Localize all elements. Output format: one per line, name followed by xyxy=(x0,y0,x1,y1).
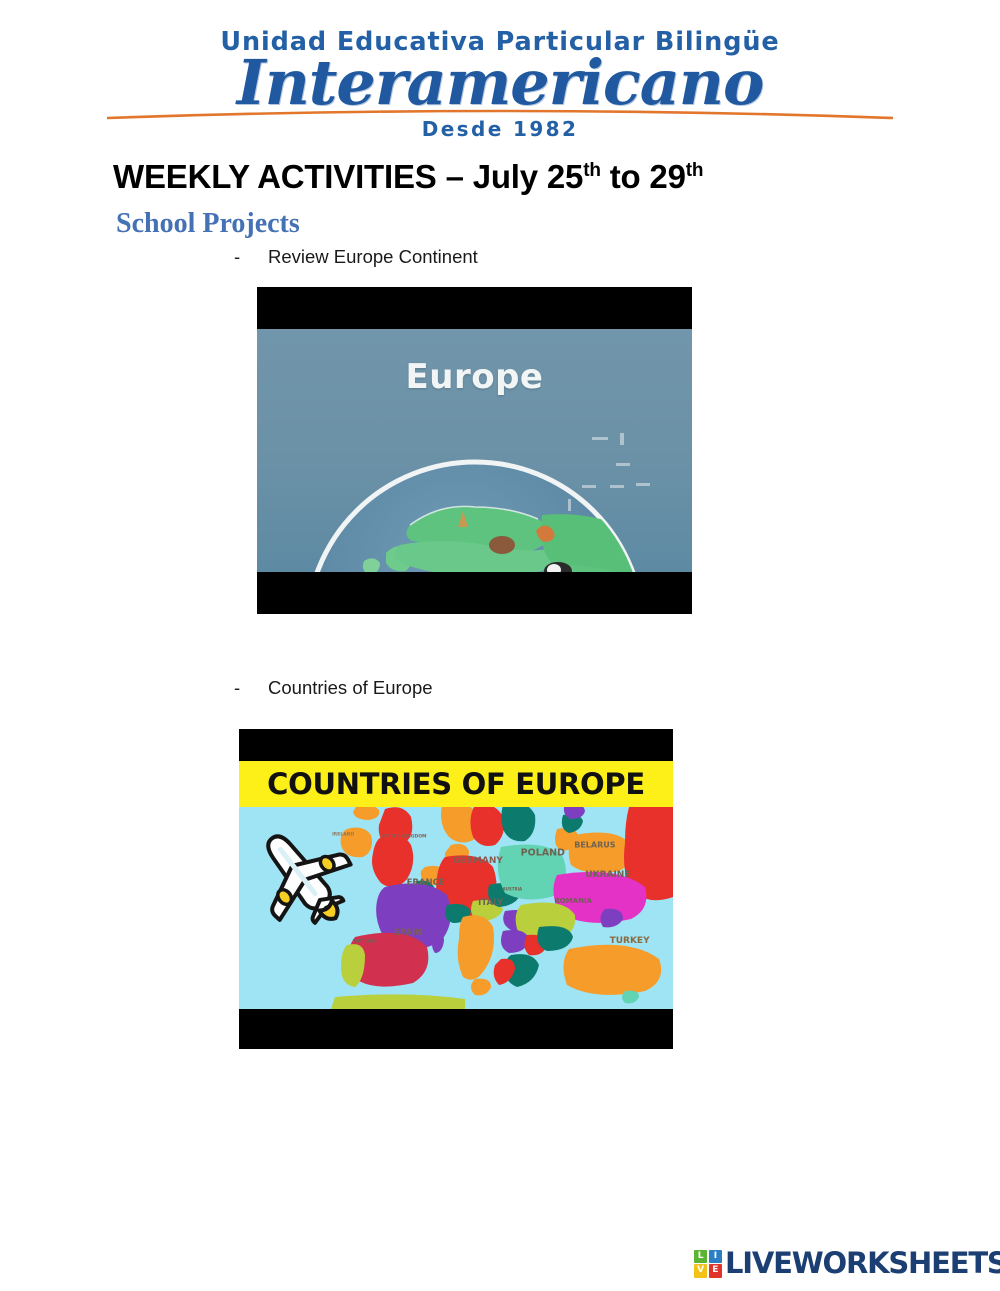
activity-dash-1: - xyxy=(234,246,268,268)
europe-caption-text: Europe xyxy=(257,357,692,397)
school-logo: Unidad Educativa Particular Bilingüe Int… xyxy=(105,16,895,138)
liveworksheets-icon: LIVE xyxy=(694,1250,722,1278)
school-logo-script-name: Interamericano xyxy=(105,54,895,113)
airplane-icon xyxy=(251,819,361,929)
liveworksheets-icon-cell-e: E xyxy=(709,1264,722,1277)
activity-label-2: Countries of Europe xyxy=(268,677,433,698)
letterbox-bottom-bar-2 xyxy=(239,1009,673,1049)
liveworksheets-wordmark: LIVEWORKSHEETS xyxy=(725,1249,1000,1278)
letterbox-bottom-bar xyxy=(257,572,692,614)
page-title: WEEKLY ACTIVITIES – July 25th to 29th xyxy=(113,158,703,196)
page-title-mid: to 29 xyxy=(601,158,686,195)
europe-video-thumbnail[interactable]: Europe xyxy=(257,287,692,614)
activity-label-1: Review Europe Continent xyxy=(268,246,478,267)
liveworksheets-icon-cell-i: I xyxy=(709,1250,722,1263)
page-title-sup-start: th xyxy=(583,160,601,181)
activity-item-1: -Review Europe Continent xyxy=(234,246,478,268)
countries-banner-text: COUNTRIES OF EUROPE xyxy=(267,767,645,801)
europe-video-stage: Europe xyxy=(257,329,692,572)
liveworksheets-icon-cell-v: V xyxy=(694,1264,707,1277)
countries-title-banner: COUNTRIES OF EUROPE xyxy=(239,761,673,807)
activity-item-2: -Countries of Europe xyxy=(234,677,433,699)
page-title-sup-end: th xyxy=(686,160,704,181)
activity-dash-2: - xyxy=(234,677,268,699)
letterbox-top-bar xyxy=(257,287,692,329)
countries-video-stage: COUNTRIES OF EUROPE xyxy=(239,761,673,1009)
countries-of-europe-video-thumbnail[interactable]: COUNTRIES OF EUROPE xyxy=(239,729,673,1049)
section-subtitle: School Projects xyxy=(116,208,300,240)
page-title-main: WEEKLY ACTIVITIES – July 25 xyxy=(113,158,583,195)
letterbox-top-bar-2 xyxy=(239,729,673,761)
school-logo-tagline: Desde 1982 xyxy=(105,119,895,139)
globe-illustration xyxy=(290,415,660,572)
liveworksheets-logo[interactable]: LIVE LIVEWORKSHEETS xyxy=(694,1249,1000,1278)
liveworksheets-icon-cell-l: L xyxy=(694,1250,707,1263)
